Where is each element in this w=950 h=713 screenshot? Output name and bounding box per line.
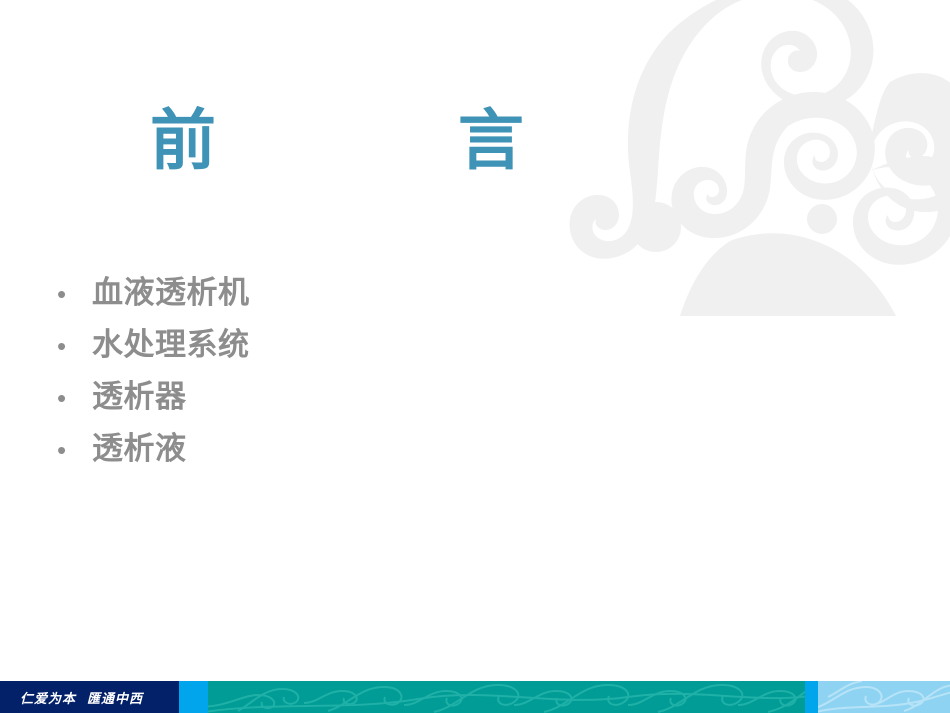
footer-cyan-divider — [179, 681, 208, 713]
cloud-swirl-ornament-icon — [560, 0, 950, 316]
slide-footer: 仁爱为本 匯通中西 — [0, 681, 950, 713]
list-item: • 透析液 — [50, 432, 250, 484]
list-item-label: 水处理系统 — [74, 328, 250, 362]
list-item-label: 透析器 — [74, 380, 187, 414]
footer-lightblue-block — [818, 681, 950, 713]
footer-teal-block — [208, 681, 805, 713]
footer-motto-block: 仁爱为本 匯通中西 — [0, 681, 179, 713]
footer-cyan-divider-right — [805, 681, 818, 713]
bullet-list: • 血液透析机 • 水处理系统 • 透析器 • 透析液 — [50, 276, 250, 484]
bullet-marker-icon: • — [50, 381, 74, 415]
bullet-marker-icon: • — [50, 329, 74, 363]
footer-motto-text: 仁爱为本 匯通中西 — [0, 688, 143, 707]
cloud-swirl-band-right-icon — [818, 681, 950, 713]
bullet-marker-icon: • — [50, 433, 74, 467]
list-item: • 水处理系统 — [50, 328, 250, 380]
slide-title: 前 言 — [150, 108, 554, 174]
list-item-label: 血液透析机 — [74, 276, 250, 310]
presentation-slide: 前 言 • 血液透析机 • 水处理系统 • 透析器 • 透析液 仁爱为本 匯通中… — [0, 0, 950, 713]
list-item: • 血液透析机 — [50, 276, 250, 328]
list-item: • 透析器 — [50, 380, 250, 432]
cloud-swirl-band-icon — [208, 681, 805, 713]
bullet-marker-icon: • — [50, 277, 74, 311]
list-item-label: 透析液 — [74, 432, 187, 466]
